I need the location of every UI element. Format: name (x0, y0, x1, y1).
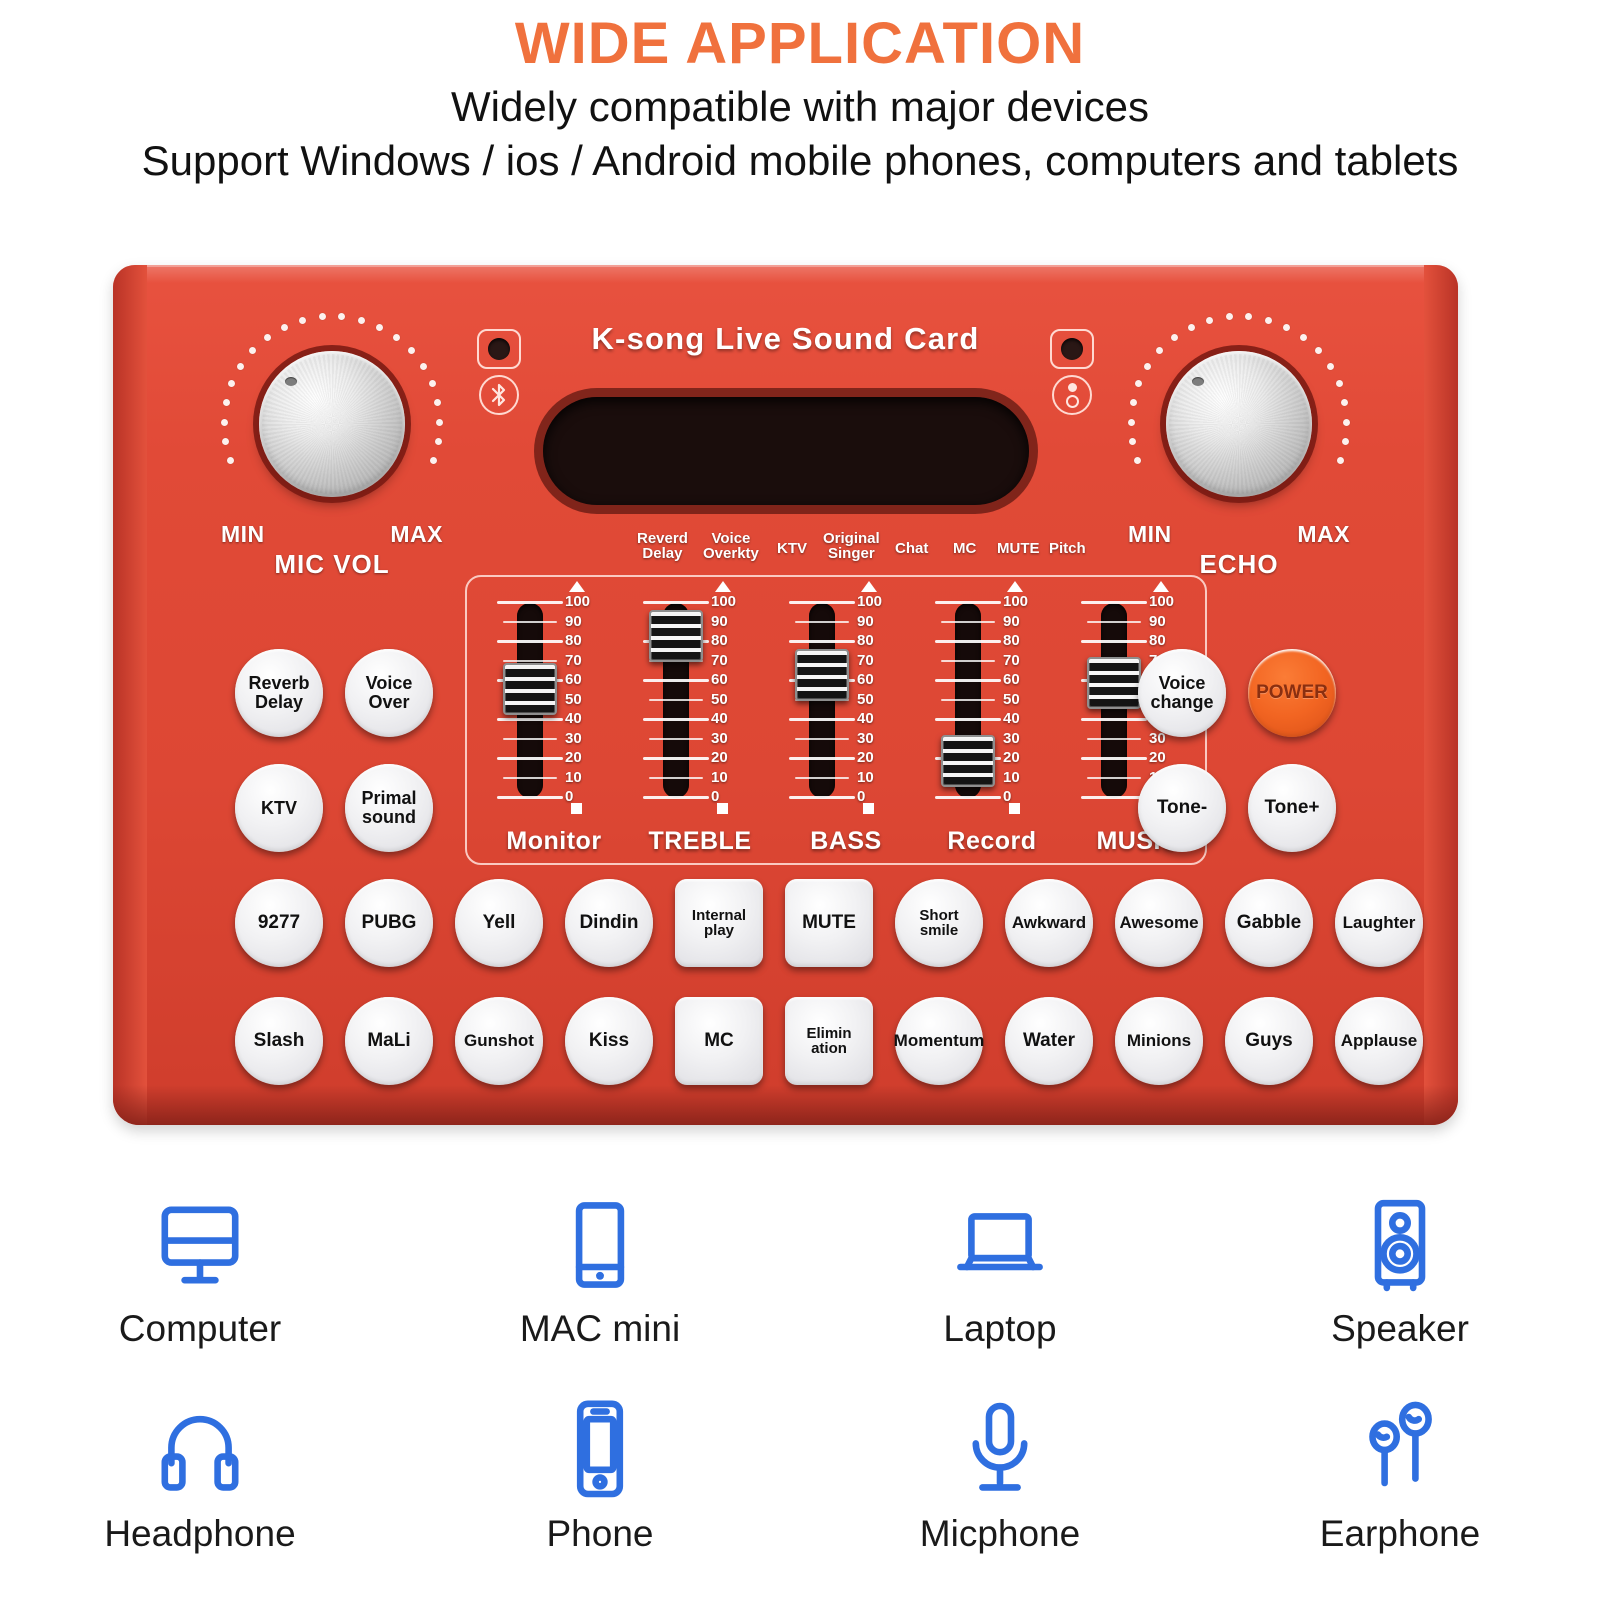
fader-scale-value: 30 (1003, 730, 1020, 747)
knob-ring-dot (435, 438, 442, 445)
led-indicator-right (1050, 329, 1094, 369)
fader-bottom-marker (1009, 803, 1020, 814)
knob-ring-dot (393, 334, 400, 341)
pad-button-kiss[interactable]: Kiss (565, 997, 653, 1085)
device-front-panel: K-song Live Sound Card (147, 279, 1424, 1095)
knob-ring-dot (223, 399, 230, 406)
knob-ring-dot (228, 380, 235, 387)
compatible-device-computer: Computer (0, 1180, 400, 1350)
fader-tick (1081, 601, 1147, 604)
fader-scale-value: 100 (1149, 593, 1174, 610)
fader-scale-value: 80 (711, 632, 728, 649)
fader-tick (1081, 718, 1147, 721)
knob-ring-dot (436, 419, 443, 426)
knob-ring-dot (1343, 419, 1350, 426)
fader-scale-value: 40 (565, 710, 582, 727)
fader-scale-value: 40 (1003, 710, 1020, 727)
knob-ring-dot (1129, 438, 1136, 445)
fader-record[interactable]: 1009080706050403020100Record (927, 587, 1057, 857)
fader-tick (795, 621, 849, 623)
knob-ring-dot (1265, 317, 1272, 324)
knob-ring-dot (1144, 363, 1151, 370)
fader-scale-value: 100 (857, 593, 882, 610)
bluetooth-icon (479, 375, 519, 415)
compatible-device-headphone: Headphone (0, 1385, 400, 1555)
page-subtitle: Widely compatible with major devices (0, 81, 1600, 134)
fader-scale-value: 80 (1003, 632, 1020, 649)
display-window (543, 397, 1029, 505)
pad-button-dindin[interactable]: Dindin (565, 879, 653, 967)
fader-tick (1081, 796, 1147, 799)
knob-ring-dot (1336, 380, 1343, 387)
laptop-icon (800, 1180, 1200, 1300)
bluetooth-glyph (488, 382, 510, 408)
knob-ring-dot (1245, 313, 1252, 320)
fader-scale-value: 50 (711, 691, 728, 708)
fader-scale-value: 80 (857, 632, 874, 649)
pad-button-mute[interactable]: MUTE (785, 879, 873, 967)
fader-tick (643, 718, 709, 721)
compatible-device-label: Computer (0, 1308, 400, 1350)
speaker-icon (1200, 1180, 1600, 1300)
fader-scale-value: 20 (711, 749, 728, 766)
fader-scale-value: 10 (565, 769, 582, 786)
fader-tick (935, 601, 1001, 604)
echo-min-label: MIN (1128, 521, 1172, 548)
mic-vol-knob[interactable] (259, 351, 405, 497)
mic-vol-range-labels: MIN MAX (217, 521, 447, 548)
microphone-icon (800, 1385, 1200, 1505)
pad-button-guys[interactable]: Guys (1225, 997, 1313, 1085)
fader-mode-label: MUTE (997, 541, 1040, 556)
knob-ring-dot (1226, 313, 1233, 320)
fader-tick (649, 699, 703, 701)
knob-ring-dot (1171, 334, 1178, 341)
fader-tick (497, 718, 563, 721)
fader-tick (795, 738, 849, 740)
knob-ring-dot (299, 317, 306, 324)
fader-scale: 1009080706050403020100 (1003, 591, 1049, 806)
led-dot (1061, 338, 1083, 360)
fader-scale-value: 100 (1003, 593, 1028, 610)
compatible-device-micphone: Micphone (800, 1385, 1200, 1555)
knob-ring-dot (222, 438, 229, 445)
pad-button-pubg[interactable]: PUBG (345, 879, 433, 967)
fader-scale-value: 40 (857, 710, 874, 727)
knob-ring-dot (434, 399, 441, 406)
knob-ring-dot (376, 324, 383, 331)
pad-button-internal-play[interactable]: Internal play (675, 879, 763, 967)
button-voice-change[interactable]: Voice change (1138, 649, 1226, 737)
fader-scale-value: 20 (565, 749, 582, 766)
compatible-device-label: Speaker (1200, 1308, 1600, 1350)
knob-ring-dot (1156, 347, 1163, 354)
knob-ring-dot (1130, 399, 1137, 406)
fader-tick (503, 621, 557, 623)
fader-scale-value: 10 (711, 769, 728, 786)
fader-scale-value: 60 (857, 671, 874, 688)
fader-tick (935, 718, 1001, 721)
record-icon (1052, 375, 1092, 415)
fader-label: BASS (763, 827, 929, 856)
mic-vol-knob-zone: MIN MAX MIC VOL (217, 309, 447, 559)
fader-tick (497, 640, 563, 643)
knob-ring-dot (1315, 347, 1322, 354)
fader-scale-value: 90 (711, 613, 728, 630)
smartphone-icon (400, 1385, 800, 1505)
fader-tick (503, 777, 557, 779)
compatible-device-label: Phone (400, 1513, 800, 1555)
pad-button-mc[interactable]: MC (675, 997, 763, 1085)
knob-ring-dot (237, 363, 244, 370)
knob-ring-dot (1327, 363, 1334, 370)
knob-ring-dot (227, 457, 234, 464)
fader-tick (497, 601, 563, 604)
fader-scale-value: 50 (1003, 691, 1020, 708)
fader-tick (497, 796, 563, 799)
echo-range-labels: MIN MAX (1124, 521, 1354, 548)
page-title: WIDE APPLICATION (0, 14, 1600, 75)
knob-ring-dot (1342, 438, 1349, 445)
fader-tick (941, 699, 995, 701)
compatible-device-laptop: Laptop (800, 1180, 1200, 1350)
record-glyph (1059, 382, 1085, 408)
compatible-device-label: MAC mini (400, 1308, 800, 1350)
knob-ring-dot (1188, 324, 1195, 331)
fader-tick (935, 679, 1001, 682)
fader-mode-label: Chat (895, 541, 928, 556)
knob-ring-dot (1283, 324, 1290, 331)
fader-scale-value: 10 (1003, 769, 1020, 786)
echo-knob-zone: MIN MAX ECHO (1124, 309, 1354, 559)
knob-position-indicator (285, 377, 297, 386)
knob-ring-dot (1300, 334, 1307, 341)
fader-mode-labels: Reverd DelayVoice OverktyKTVOriginal Sin… (637, 531, 1067, 571)
fader-tick (649, 777, 703, 779)
fader-scale-value: 100 (711, 593, 736, 610)
fader-scale-value: 70 (1003, 652, 1020, 669)
fader-scale-value: 40 (711, 710, 728, 727)
fader-mode-label: Pitch (1049, 541, 1086, 556)
button-ktv[interactable]: KTV (235, 764, 323, 852)
pad-button-awkward[interactable]: Awkward (1005, 879, 1093, 967)
knob-ring-dot (358, 317, 365, 324)
knob-position-indicator (1192, 377, 1204, 386)
fader-tick (941, 660, 995, 662)
fader-tick (643, 796, 709, 799)
fader-handle[interactable] (1087, 657, 1141, 709)
fader-tick (1081, 640, 1147, 643)
fader-tick (1087, 621, 1141, 623)
knob-ring-dot (429, 380, 436, 387)
fader-scale-value: 20 (1003, 749, 1020, 766)
compatible-devices-grid: ComputerMAC miniLaptopSpeakerHeadphonePh… (0, 1180, 1600, 1600)
fader-handle[interactable] (941, 735, 995, 787)
fader-scale-value: 10 (857, 769, 874, 786)
led-dot (488, 338, 510, 360)
fader-handle[interactable] (503, 663, 557, 715)
fader-scale-value: 60 (565, 671, 582, 688)
fader-mode-label: MC (953, 541, 976, 556)
fader-tick (503, 660, 557, 662)
pad-button-short-smile[interactable]: Short smile (895, 879, 983, 967)
button-tone-minus[interactable]: Tone- (1138, 764, 1226, 852)
knob-ring-dot (1134, 457, 1141, 464)
desktop-monitor-icon (0, 1180, 400, 1300)
compatible-device-label: Headphone (0, 1513, 400, 1555)
fader-scale-value: 50 (857, 691, 874, 708)
knob-ring-dot (264, 334, 271, 341)
fader-tick (795, 777, 849, 779)
fader-tick (789, 796, 855, 799)
fader-label: Record (909, 827, 1075, 856)
fader-tick (643, 757, 709, 760)
fader-mode-label: Original Singer (823, 531, 880, 561)
fader-mode-label: Reverd Delay (637, 531, 688, 561)
fader-scale-value: 90 (1003, 613, 1020, 630)
echo-knob[interactable] (1166, 351, 1312, 497)
fader-bottom-marker (863, 803, 874, 814)
headphone-icon (0, 1385, 400, 1505)
pad-button-water[interactable]: Water (1005, 997, 1093, 1085)
fader-scale-value: 30 (857, 730, 874, 747)
fader-tick (789, 640, 855, 643)
fader-mode-label: KTV (777, 541, 807, 556)
mic-vol-max-label: MAX (390, 521, 443, 548)
mic-vol-min-label: MIN (221, 521, 265, 548)
fader-tick (935, 796, 1001, 799)
button-primal-sound[interactable]: Primal sound (345, 764, 433, 852)
fader-label: TREBLE (617, 827, 783, 856)
device-right-bevel (1424, 265, 1458, 1125)
fader-tick (789, 601, 855, 604)
fader-scale: 1009080706050403020100 (857, 591, 903, 806)
pad-button-gunshot[interactable]: Gunshot (455, 997, 543, 1085)
fader-tick (935, 640, 1001, 643)
fader-tick (941, 621, 995, 623)
knob-ring-dot (338, 313, 345, 320)
led-indicator-left (477, 329, 521, 369)
sound-card-device: K-song Live Sound Card (113, 265, 1458, 1125)
page-subtitle-secondary: Support Windows / ios / Android mobile p… (0, 135, 1600, 188)
knob-ring-dot (249, 347, 256, 354)
compatible-device-label: Micphone (800, 1513, 1200, 1555)
knob-ring-dot (1128, 419, 1135, 426)
knob-ring-dot (281, 324, 288, 331)
knob-ring-dot (408, 347, 415, 354)
fader-scale-value: 90 (857, 613, 874, 630)
fader-bottom-marker (717, 803, 728, 814)
fader-tick (1087, 777, 1141, 779)
fader-scale-value: 60 (1003, 671, 1020, 688)
pad-button-yell[interactable]: Yell (455, 879, 543, 967)
fader-scale-value: 90 (565, 613, 582, 630)
earbuds-icon (1200, 1385, 1600, 1505)
compatible-device-mac-mini: MAC mini (400, 1180, 800, 1350)
fader-monitor[interactable]: 1009080706050403020100Monitor (489, 587, 619, 857)
button-tone-plus[interactable]: Tone+ (1248, 764, 1336, 852)
fader-tick (1087, 738, 1141, 740)
fader-panel: 1009080706050403020100Monitor10090807060… (465, 575, 1207, 865)
compatible-device-earphone: Earphone (1200, 1385, 1600, 1555)
pad-button-gabble[interactable]: Gabble (1225, 879, 1313, 967)
tablet-icon (400, 1180, 800, 1300)
compatible-device-label: Laptop (800, 1308, 1200, 1350)
fader-scale-value: 30 (565, 730, 582, 747)
fader-tick (503, 738, 557, 740)
fader-tick (643, 601, 709, 604)
fader-scale-value: 60 (711, 671, 728, 688)
knob-ring-dot (319, 313, 326, 320)
knob-ring-dot (221, 419, 228, 426)
fader-mode-label: Voice Overkty (703, 531, 759, 561)
pad-button-awesome[interactable]: Awesome (1115, 879, 1203, 967)
fader-scale: 1009080706050403020100 (565, 591, 611, 806)
fader-handle[interactable] (649, 610, 703, 662)
fader-label: Monitor (471, 827, 637, 856)
compatible-device-phone: Phone (400, 1385, 800, 1555)
pad-button-mali[interactable]: MaLi (345, 997, 433, 1085)
button-power[interactable]: POWER (1248, 649, 1336, 737)
pad-button-9277[interactable]: 9277 (235, 879, 323, 967)
knob-ring-dot (1135, 380, 1142, 387)
fader-bottom-marker (571, 803, 582, 814)
pad-button-elimin-ation[interactable]: Elimin ation (785, 997, 873, 1085)
button-voice-over[interactable]: Voice Over (345, 649, 433, 737)
fader-scale-value: 20 (1149, 749, 1166, 766)
fader-treble[interactable]: 1009080706050403020100TREBLE (635, 587, 765, 857)
fader-tick (1081, 757, 1147, 760)
fader-tick (789, 757, 855, 760)
compatible-device-speaker: Speaker (1200, 1180, 1600, 1350)
fader-scale-value: 100 (565, 593, 590, 610)
fader-scale-value: 90 (1149, 613, 1166, 630)
pad-button-laughter[interactable]: Laughter (1335, 879, 1423, 967)
fader-scale-value: 70 (711, 652, 728, 669)
mic-vol-label: MIC VOL (217, 549, 447, 580)
pad-button-slash[interactable]: Slash (235, 997, 323, 1085)
pad-button-momentum[interactable]: Momentum (895, 997, 983, 1085)
fader-scale: 1009080706050403020100 (711, 591, 757, 806)
knob-ring-dot (1206, 317, 1213, 324)
knob-ring-dot (420, 363, 427, 370)
fader-scale-value: 80 (565, 632, 582, 649)
fader-scale-value: 70 (565, 652, 582, 669)
knob-ring-dot (430, 457, 437, 464)
pad-button-applause[interactable]: Applause (1335, 997, 1423, 1085)
device-left-bevel (113, 265, 147, 1125)
fader-scale-value: 30 (711, 730, 728, 747)
fader-tick (497, 757, 563, 760)
fader-handle[interactable] (795, 649, 849, 701)
device-body: K-song Live Sound Card (113, 265, 1458, 1125)
echo-max-label: MAX (1297, 521, 1350, 548)
pad-button-minions[interactable]: Minions (1115, 997, 1203, 1085)
fader-scale-value: 70 (857, 652, 874, 669)
fader-scale-value: 50 (565, 691, 582, 708)
compatible-device-label: Earphone (1200, 1513, 1600, 1555)
fader-scale-value: 20 (857, 749, 874, 766)
header: WIDE APPLICATION Widely compatible with … (0, 0, 1600, 188)
fader-tick (649, 738, 703, 740)
fader-tick (643, 679, 709, 682)
knob-ring-dot (1341, 399, 1348, 406)
knob-ring-dot (1337, 457, 1344, 464)
fader-scale-value: 80 (1149, 632, 1166, 649)
fader-bass[interactable]: 1009080706050403020100BASS (781, 587, 911, 857)
fader-tick (789, 718, 855, 721)
button-reverb-delay[interactable]: Reverb Delay (235, 649, 323, 737)
